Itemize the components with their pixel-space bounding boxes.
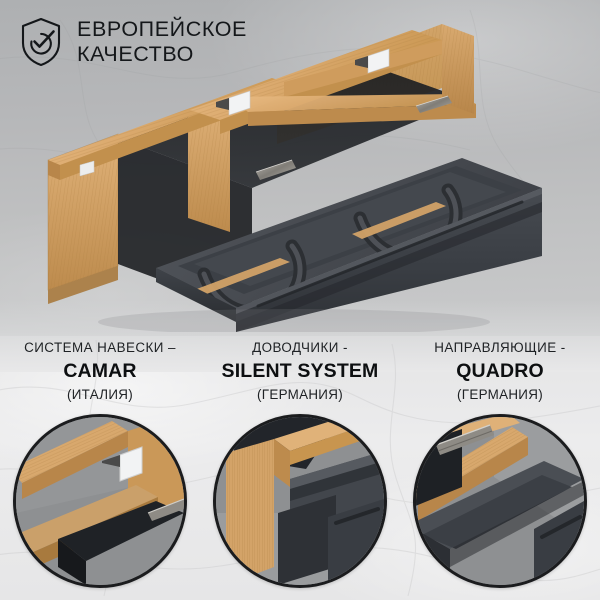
feature-country: (ГЕРМАНИЯ) (257, 387, 343, 402)
detail-circle-wrap-camar (0, 414, 200, 588)
infographic-canvas: ЕВРОПЕЙСКОЕ КАЧЕСТВО (0, 0, 600, 600)
feature-column-quadro: НАПРАВЛЯЮЩИЕ - QUADRO (ГЕРМАНИЯ) (400, 340, 600, 402)
feature-labels-row: СИСТЕМА НАВЕСКИ – CAMAR (ИТАЛИЯ) ДОВОДЧИ… (0, 340, 600, 402)
feature-country: (ИТАЛИЯ) (67, 387, 133, 402)
feature-column-camar: СИСТЕМА НАВЕСКИ – CAMAR (ИТАЛИЯ) (0, 340, 200, 402)
hero-product-image (44, 22, 556, 332)
drawer-slide-detail (413, 414, 587, 588)
hanging-bracket-detail (13, 414, 187, 588)
feature-brand: SILENT SYSTEM (222, 360, 379, 383)
feature-brand: QUADRO (456, 360, 544, 383)
product-shadow (98, 309, 490, 332)
detail-circle-wrap-silent-system (200, 414, 400, 588)
feature-kicker: СИСТЕМА НАВЕСКИ – (24, 340, 176, 355)
feature-kicker: ДОВОДЧИКИ - (252, 340, 348, 355)
soft-close-drawer-detail (213, 414, 387, 588)
feature-column-silent-system: ДОВОДЧИКИ - SILENT SYSTEM (ГЕРМАНИЯ) (200, 340, 400, 402)
feature-brand: CAMAR (63, 360, 136, 383)
detail-circles-row (0, 414, 600, 588)
detail-circle-wrap-quadro (400, 414, 600, 588)
feature-kicker: НАПРАВЛЯЮЩИЕ - (434, 340, 565, 355)
feature-country: (ГЕРМАНИЯ) (457, 387, 543, 402)
